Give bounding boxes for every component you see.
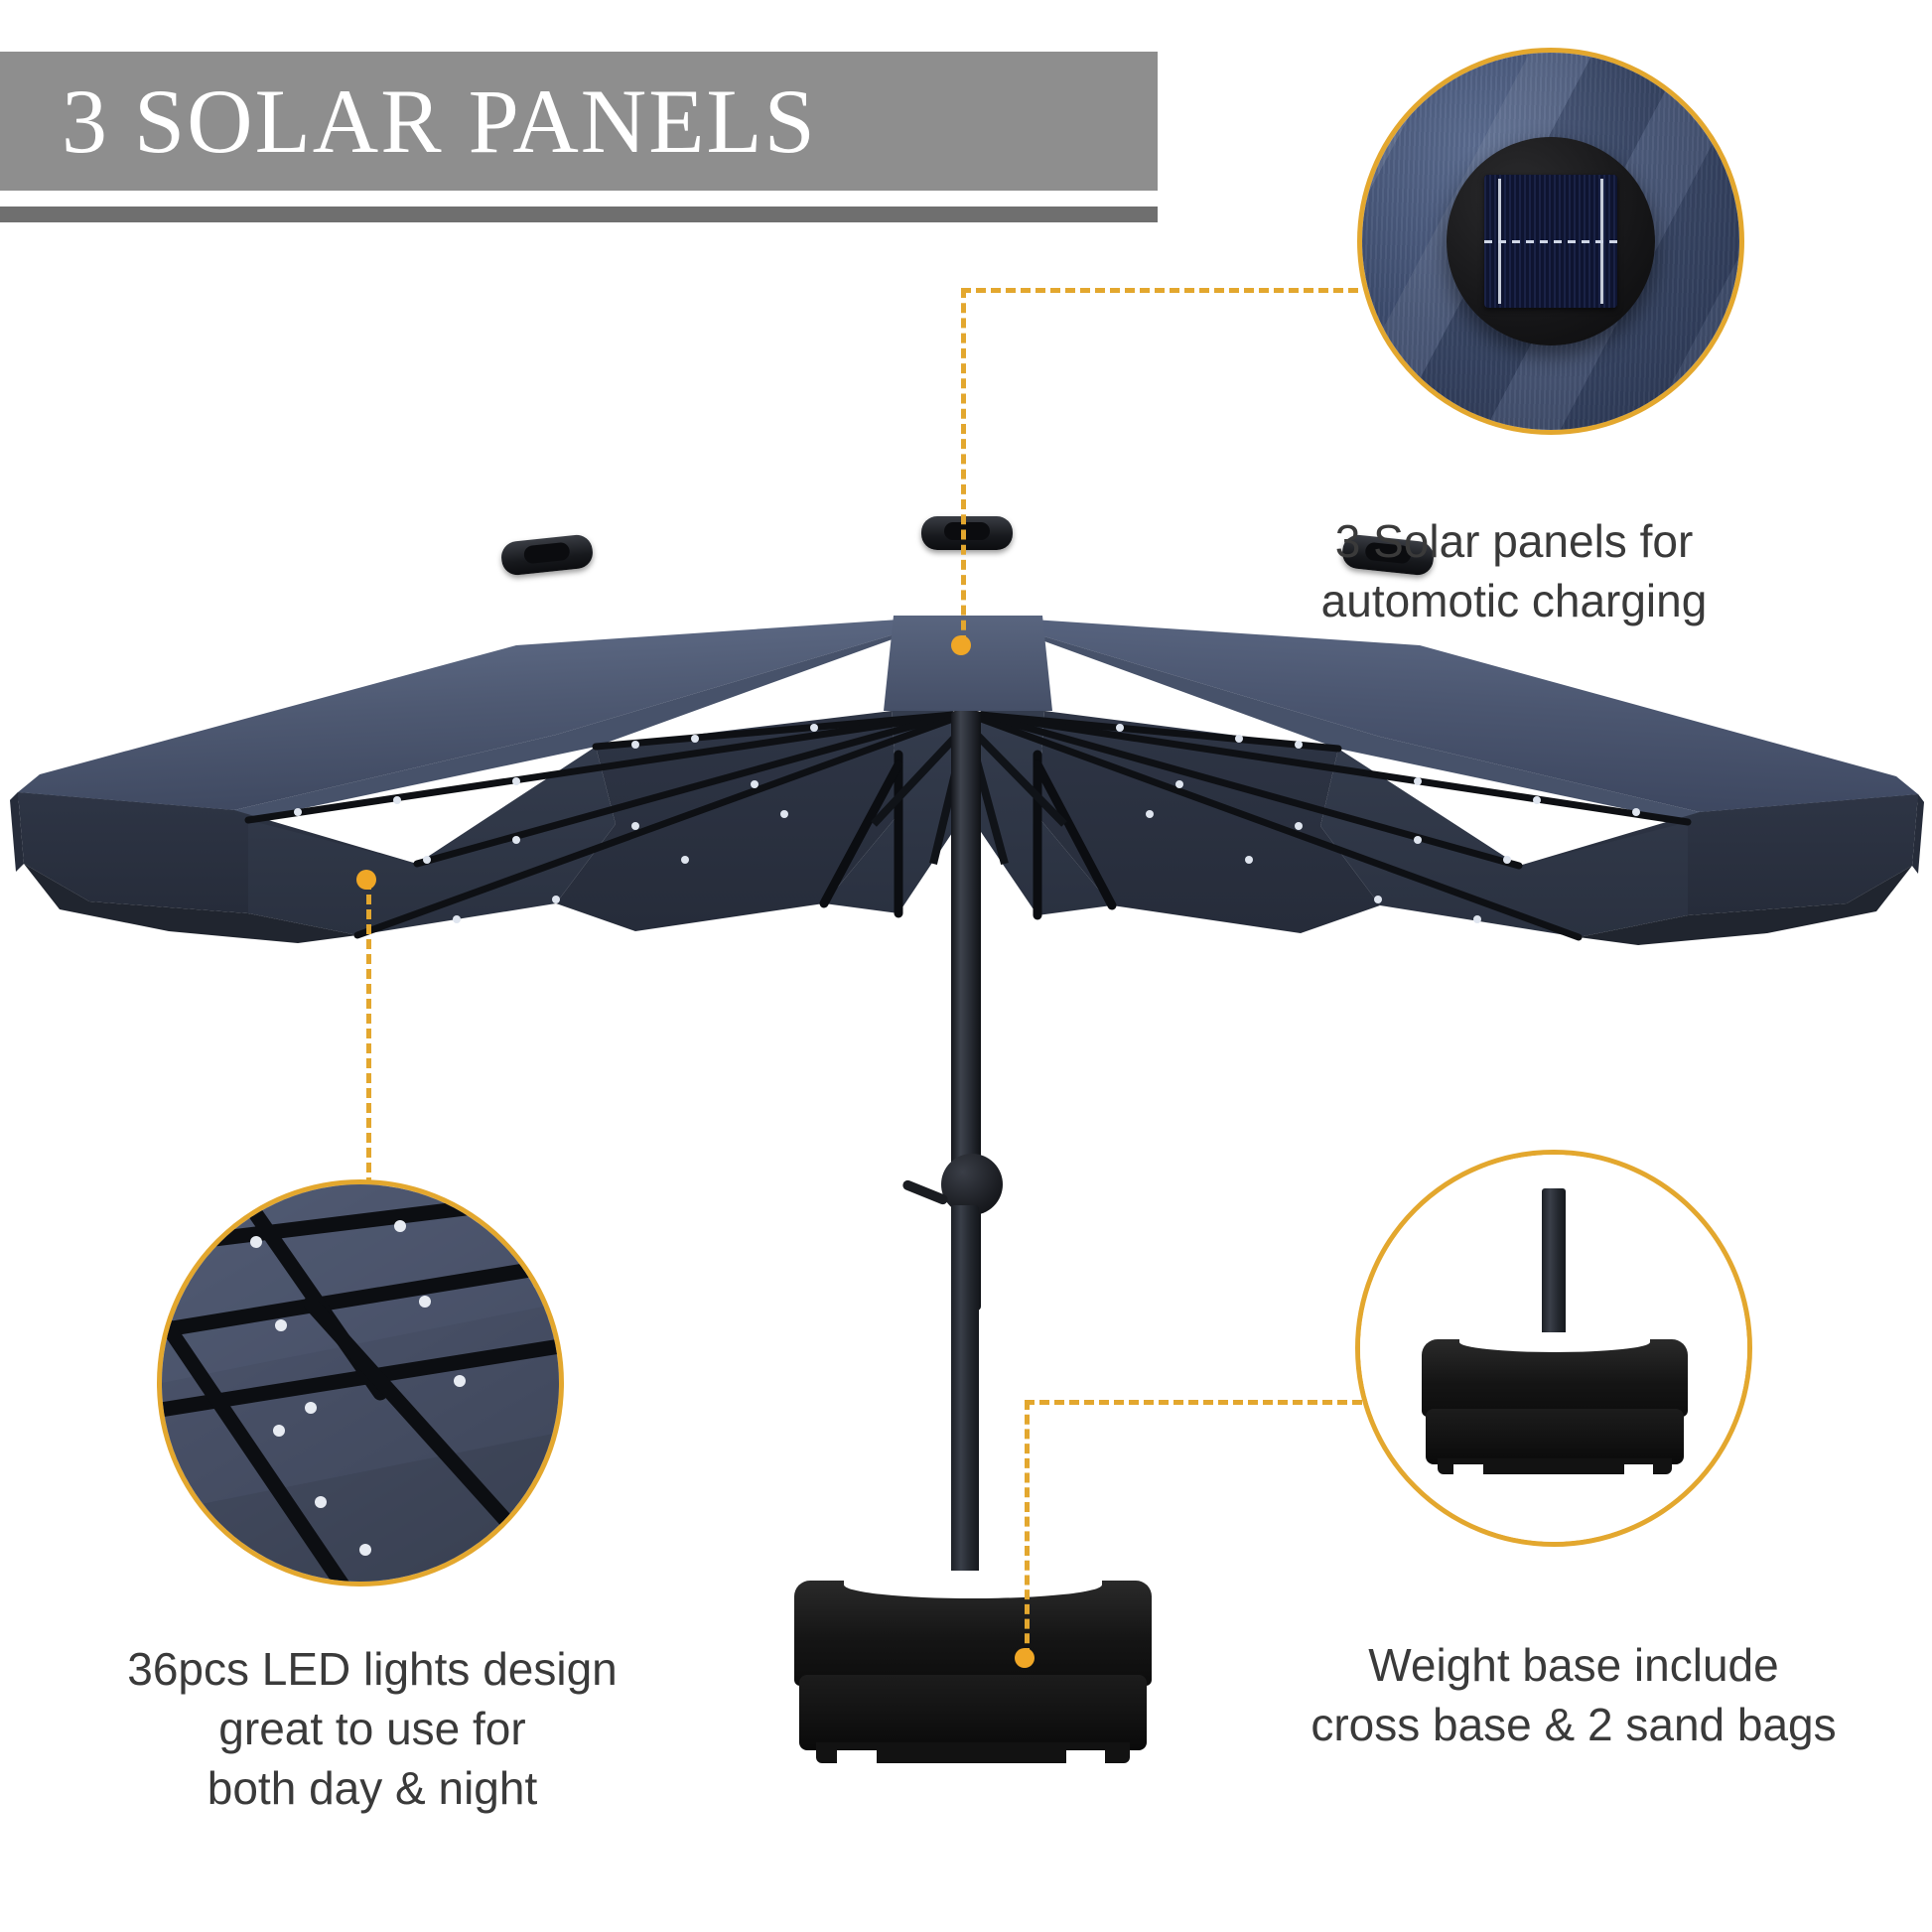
caption-weight-base: Weight base include cross base & 2 sand … (1231, 1636, 1916, 1755)
connector-led-vertical (366, 880, 371, 1187)
page-title: 3 SOLAR PANELS (62, 75, 817, 167)
caption-led-line-2: great to use for (30, 1700, 715, 1759)
caption-solar-panel: 3 Solar panels for automotic charging (1122, 512, 1906, 631)
base-cushion-detail (1422, 1339, 1688, 1417)
callout-solar-panel (1357, 48, 1744, 435)
base-cushion (794, 1581, 1152, 1686)
title-banner-rule (0, 207, 1158, 222)
callout-led-lights (157, 1179, 564, 1587)
lower-pole (951, 1205, 979, 1602)
weight-base-photo (1360, 1155, 1747, 1542)
led-rib-graphic (162, 1184, 559, 1582)
infographic-canvas: 3 SOLAR PANELS (0, 0, 1932, 1932)
callout-weight-base (1355, 1150, 1752, 1547)
panel-housing (1447, 137, 1655, 345)
caption-led-line-3: both day & night (30, 1759, 715, 1819)
solar-cell (1484, 175, 1617, 308)
solar-hub-left (499, 533, 594, 576)
connector-dot-led (356, 870, 376, 890)
base-skirt-detail (1426, 1409, 1684, 1464)
caption-led-lights: 36pcs LED lights design great to use for… (30, 1640, 715, 1818)
title-banner: 3 SOLAR PANELS (0, 52, 1158, 191)
caption-base-line-2: cross base & 2 sand bags (1231, 1696, 1916, 1755)
caption-solar-line-2: automotic charging (1122, 572, 1906, 631)
base-notch-right (1066, 1750, 1106, 1767)
connector-solar-vertical (961, 288, 966, 645)
weight-base-detail (1422, 1339, 1688, 1478)
caption-led-line-1: 36pcs LED lights design (30, 1640, 715, 1700)
solar-hub-center (921, 516, 1013, 550)
base-notch-right-detail (1624, 1464, 1653, 1477)
caption-solar-line-1: 3 Solar panels for (1122, 512, 1906, 572)
connector-base-horizontal (1025, 1400, 1362, 1405)
base-skirt (799, 1675, 1146, 1750)
base-notch-left-detail (1453, 1464, 1482, 1477)
led-lights-photo (162, 1184, 559, 1582)
solar-panel-photo (1362, 53, 1739, 430)
weight-base (794, 1581, 1152, 1769)
caption-base-line-1: Weight base include (1231, 1636, 1916, 1696)
connector-dot-base (1015, 1648, 1035, 1668)
connector-base-vertical (1025, 1400, 1030, 1658)
base-notch-left (837, 1750, 877, 1767)
connector-dot-solar (951, 635, 971, 655)
connector-solar-horizontal (961, 288, 1358, 293)
